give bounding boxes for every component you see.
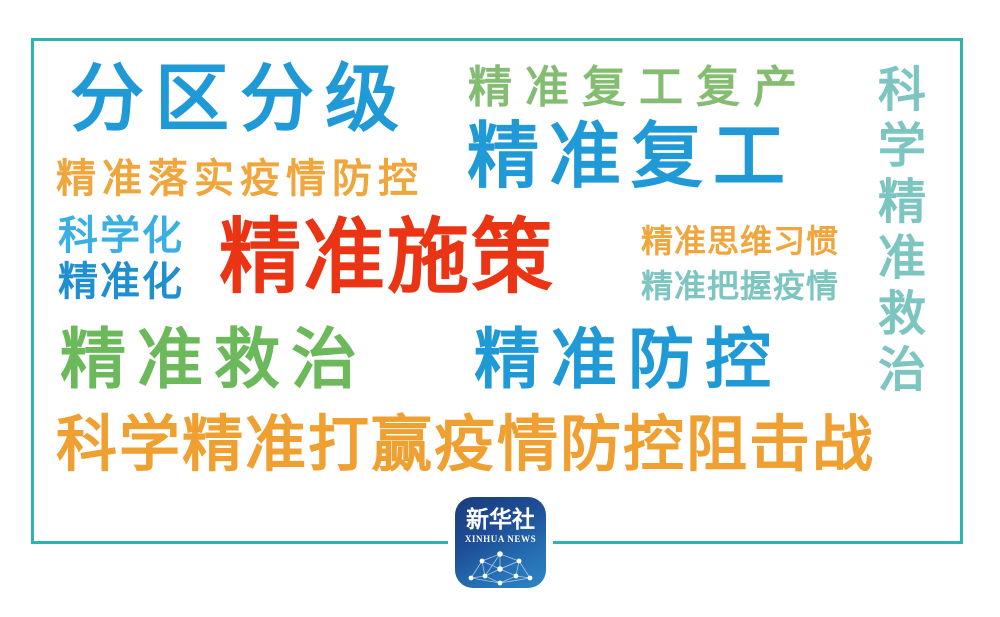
word-fugongfuchan: 精准复工复产 [468, 66, 810, 110]
word-kexuehua: 科学化 [58, 216, 184, 256]
word-jingzhun-bawo-yiqing: 精准把握疫情 [641, 270, 839, 302]
frame-border-right [960, 38, 963, 544]
word-jingzhun-fangkong: 精准防控 [474, 326, 782, 392]
poster-canvas: 分区分级 精准复工复产 精准落实疫情防控 精准复工 科学精准救治 科学化 精准化… [0, 0, 1000, 617]
xinhua-news-logo: 新华社 XINHUA NEWS [455, 497, 546, 588]
word-jingzhun-jiuzhi: 精准救治 [60, 326, 368, 392]
word-jingzhun-shice-headline: 精准施策 [219, 217, 555, 299]
word-kexue-jingzhun-zujizhan: 科学精准打赢疫情防控阻击战 [56, 414, 875, 475]
frame-border-bottom-left [31, 541, 448, 544]
frame-border-top [31, 38, 963, 41]
word-fenqufenji: 分区分级 [70, 62, 410, 136]
word-luoshi-yiqing-fangkong: 精准落实疫情防控 [56, 159, 424, 199]
word-jingzhun-siwei-xiguan: 精准思维习惯 [641, 225, 839, 257]
word-jingzhunhua: 精准化 [58, 262, 184, 302]
logo-name-cn: 新华社 [455, 508, 546, 531]
word-kexue-jingzhun-jiuzhi-vertical: 科学精准救治 [872, 64, 920, 400]
frame-border-left [31, 38, 34, 544]
word-jingzhun-fugong: 精准复工 [467, 121, 795, 193]
network-nodes-icon [455, 545, 546, 588]
frame-border-bottom-right [553, 541, 963, 544]
logo-name-en: XINHUA NEWS [455, 535, 546, 544]
